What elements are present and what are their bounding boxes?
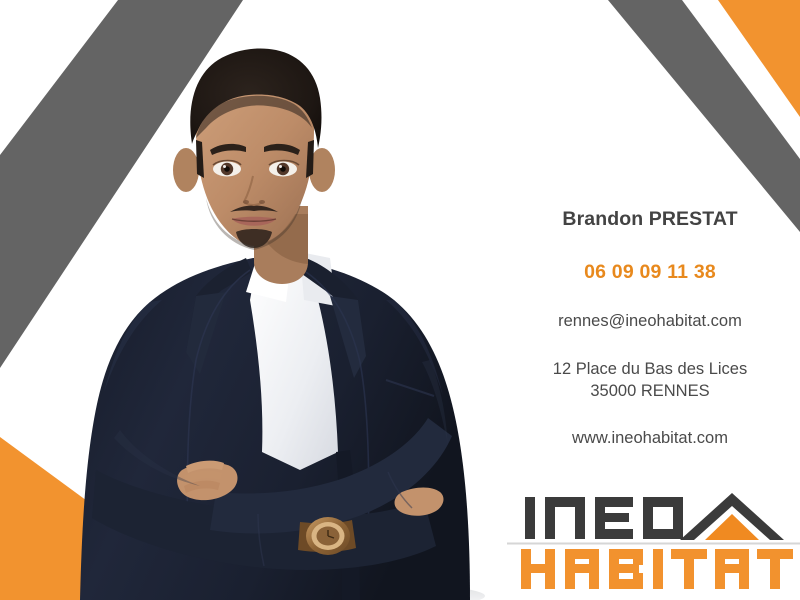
logo-word-habitat bbox=[521, 549, 793, 589]
contact-website[interactable]: www.ineohabitat.com bbox=[572, 429, 728, 449]
wristwatch-icon bbox=[298, 517, 356, 555]
portrait-photo bbox=[0, 0, 510, 600]
contact-phone[interactable]: 06 09 09 11 38 bbox=[584, 261, 716, 284]
ineo-habitat-logo[interactable] bbox=[507, 487, 800, 595]
contact-email[interactable]: rennes@ineohabitat.com bbox=[558, 312, 742, 332]
address-line-2: 35000 RENNES bbox=[553, 380, 747, 403]
logo-word-ineo bbox=[525, 497, 683, 539]
ear-left bbox=[173, 148, 199, 192]
eye-glint-right bbox=[279, 165, 282, 168]
nostril-left bbox=[243, 200, 249, 204]
house-roof-chevron-icon bbox=[680, 493, 784, 540]
contact-address: 12 Place du Bas des Lices 35000 RENNES bbox=[553, 358, 747, 404]
contact-name: Brandon PRESTAT bbox=[562, 208, 737, 231]
nostril-right bbox=[259, 200, 265, 204]
address-line-1: 12 Place du Bas des Lices bbox=[553, 358, 747, 381]
business-card: Brandon PRESTAT 06 09 09 11 38 rennes@in… bbox=[0, 0, 800, 600]
eye-glint-left bbox=[223, 165, 226, 168]
